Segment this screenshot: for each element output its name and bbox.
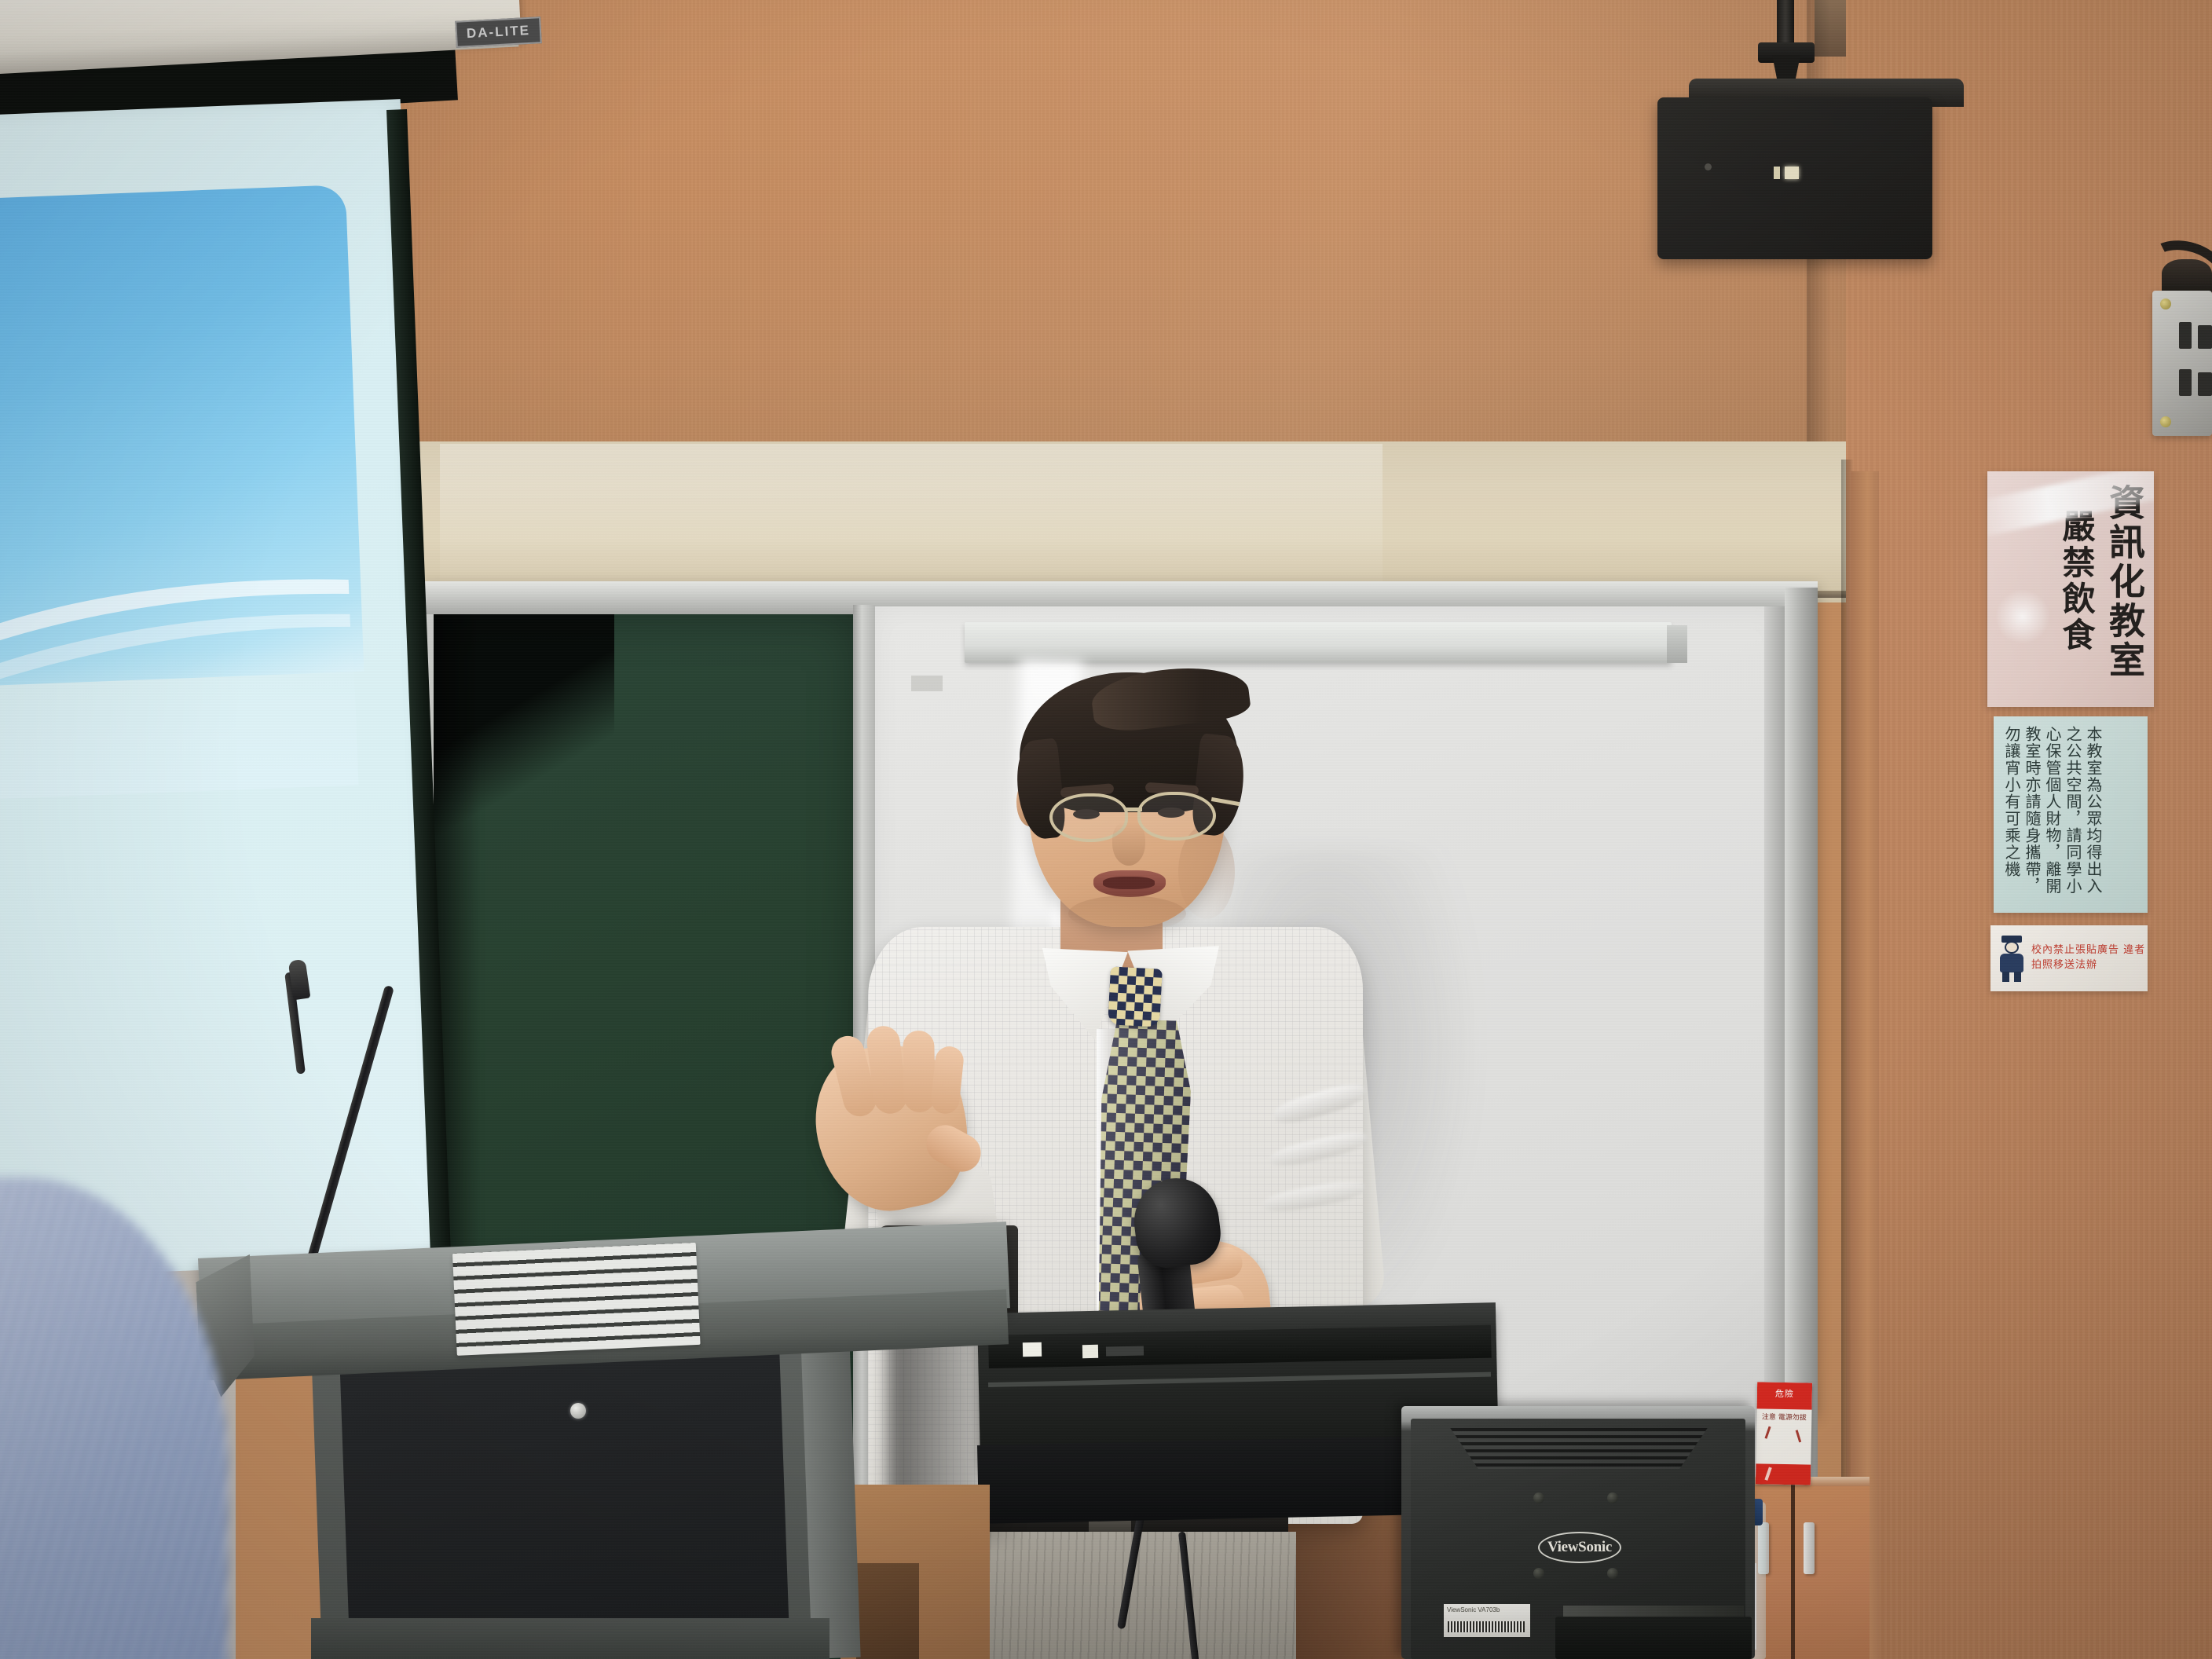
outlet-slot-2 (2179, 369, 2192, 396)
sign-glare-spot (1995, 589, 2050, 644)
sign-text-no-food: 嚴禁飲食 (2059, 509, 2093, 654)
photograph-scene: DA-LITE 資訊化教室 嚴禁飲食 本教室為公眾均得出入之公共空間，請同學小心… (0, 0, 2212, 1659)
lectern-striped-accent (452, 1243, 701, 1356)
monitor-port-label-strip (1563, 1606, 1744, 1617)
speaker-nose (1112, 822, 1145, 866)
no-posting-text: 校內禁止張貼廣告 違者拍照移送法辦 (2031, 943, 2148, 973)
wall-sign-group: 資訊化教室 嚴禁飲食 本教室為公眾均得出入之公共空間，請同學小心保管個人財物，離… (1987, 471, 2154, 998)
av-rack-indicator-1 (1023, 1342, 1042, 1357)
necktie-knot (1108, 966, 1163, 1027)
soffit-highlight (440, 444, 1382, 601)
whiteboard-marker-tray (965, 622, 1672, 663)
classroom-sign-body: 本教室為公眾均得出入之公共空間，請同學小心保管個人財物，離開教室時亦請隨身攜帶，… (1994, 716, 2148, 913)
dalite-brand-label: DA-LITE (455, 16, 542, 48)
loudspeaker-led-secondary (1774, 167, 1780, 179)
monitor-vesa-hole-2 (1607, 1492, 1618, 1503)
monitor-barcode (1448, 1621, 1525, 1632)
outlet-slot-3 (2198, 325, 2212, 349)
monitor-port-bay (1555, 1617, 1752, 1659)
lectern-base (311, 1618, 829, 1659)
loudspeaker-screw (1705, 163, 1712, 170)
av-rack-indicator-2 (1082, 1345, 1098, 1358)
speaker-mouth-interior (1103, 877, 1155, 889)
av-rack-slot (1106, 1346, 1144, 1356)
policeman-icon (1995, 934, 2028, 983)
monitor-vesa-hole-4 (1607, 1568, 1618, 1579)
lectern-front-panel (339, 1337, 789, 1658)
lectern-power-button[interactable] (570, 1403, 586, 1419)
warning-label-body: 注意 電源勿拔 (1756, 1413, 1811, 1423)
monitor-vesa-hole-1 (1533, 1492, 1544, 1503)
outlet-screw-top (2160, 298, 2171, 309)
monitor-vesa-hole-3 (1533, 1568, 1544, 1579)
outlet-slot-1 (2179, 322, 2192, 349)
slide-bottom-fade (0, 644, 359, 801)
monitor-vent-grille (1439, 1428, 1719, 1469)
cabinet-door-gap (1791, 1481, 1795, 1659)
loudspeaker-led (1785, 167, 1799, 179)
outlet-screw-bottom (2160, 416, 2171, 427)
viewsonic-logo: ViewSonic (1538, 1532, 1621, 1563)
sign-body-text: 本教室為公眾均得出入之公共空間，請同學小心保管個人財物，離開教室時亦請隨身攜帶，… (2001, 726, 2104, 902)
glasses-bridge (1125, 808, 1142, 811)
whiteboard-tray-end-cap (1667, 625, 1687, 663)
cardboard-box-shadow (856, 1563, 919, 1659)
monitor-spec-sticker: ViewSonic VA703b (1444, 1604, 1530, 1637)
glasses-right-lens (1137, 792, 1216, 840)
warning-label: 危險 注意 電源勿拔 (1756, 1382, 1812, 1485)
warning-label-title: 危險 (1757, 1386, 1812, 1400)
wall-outlet-icon[interactable] (2152, 291, 2212, 436)
warning-label-bottom-band (1756, 1463, 1811, 1485)
cabinet-handle-right[interactable] (1804, 1522, 1815, 1574)
outlet-slot-4 (2198, 372, 2212, 396)
classroom-sign-header: 資訊化教室 嚴禁飲食 (1987, 471, 2154, 707)
no-posting-sign: 校內禁止張貼廣告 違者拍照移送法辦 (1990, 925, 2148, 991)
sign-text-classroom: 資訊化教室 (2106, 484, 2143, 680)
monitor-sticker-text: ViewSonic VA703b (1447, 1606, 1500, 1613)
